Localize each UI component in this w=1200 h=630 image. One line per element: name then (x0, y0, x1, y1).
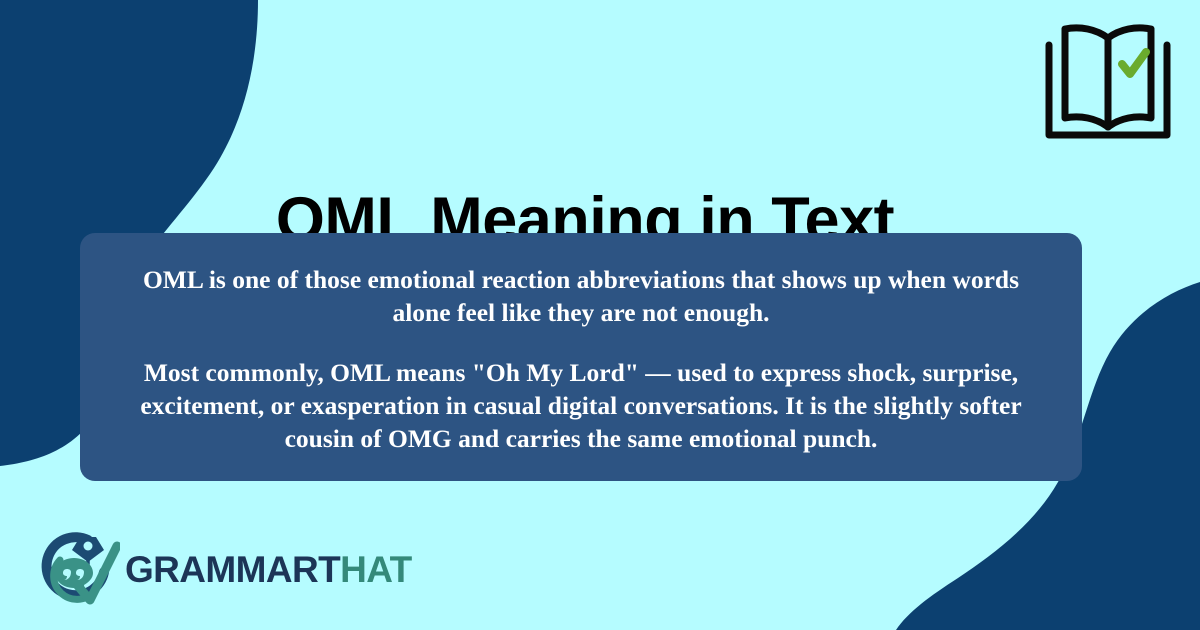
brand-logo[interactable]: GRAMMARTHAT (38, 528, 412, 610)
poster-canvas: OML Meaning in Text OML is one of those … (0, 0, 1200, 630)
panel-paragraph-secondary: Most commonly, OML means "Oh My Lord" — … (116, 356, 1046, 455)
brand-name-secondary: HAT (340, 549, 412, 590)
open-book-icon (1044, 24, 1172, 140)
brand-name-primary: GRAMMART (125, 549, 340, 590)
brand-wordmark: GRAMMARTHAT (125, 551, 412, 588)
book-page-left (1065, 28, 1108, 127)
pen-nib-check-speech-bubble-emblem (38, 528, 120, 610)
content-panel: OML is one of those emotional reaction a… (80, 233, 1082, 481)
panel-paragraph-primary: OML is one of those emotional reaction a… (116, 263, 1046, 329)
